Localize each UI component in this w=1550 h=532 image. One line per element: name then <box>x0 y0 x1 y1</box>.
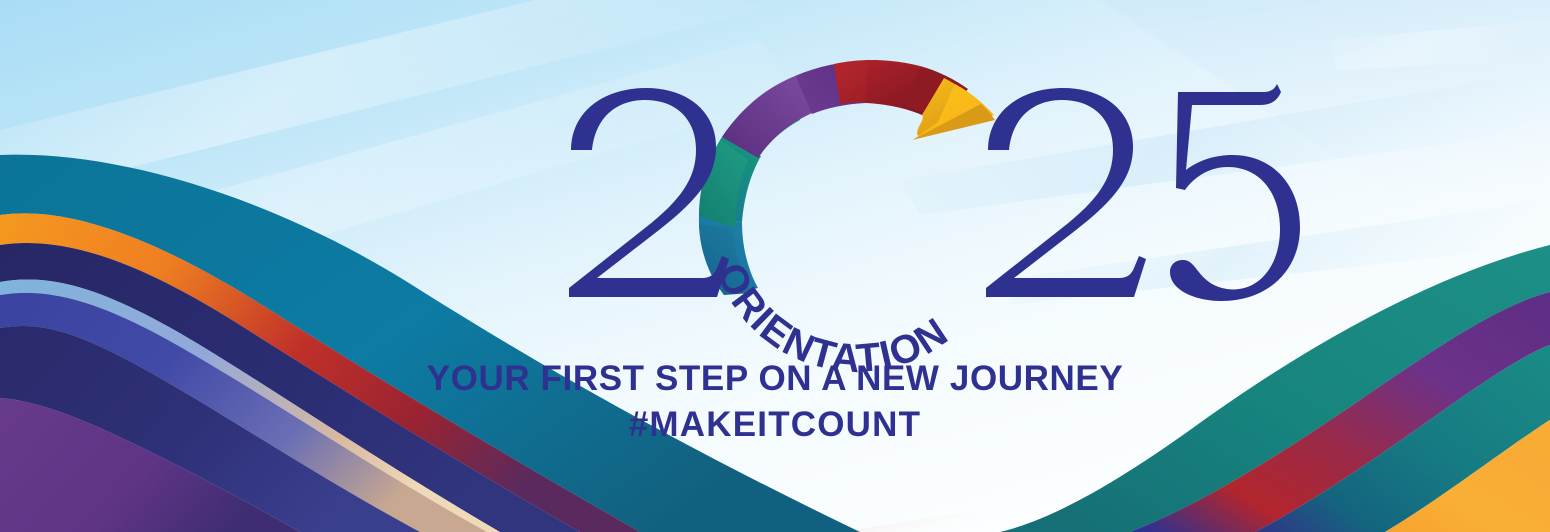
tagline-block: YOUR FIRST STEP ON A NEW JOURNEY #MAKEIT… <box>0 356 1550 448</box>
tagline-line-1: YOUR FIRST STEP ON A NEW JOURNEY <box>0 356 1550 402</box>
orientation-2025-logo: ORIENTATION <box>0 0 1550 532</box>
logo-digits-25 <box>986 84 1300 301</box>
tagline-line-2: #MAKEITCOUNT <box>0 402 1550 448</box>
orientation-banner: ORIENTATION YOUR FIRST STEP ON A NEW JOU… <box>0 0 1550 532</box>
